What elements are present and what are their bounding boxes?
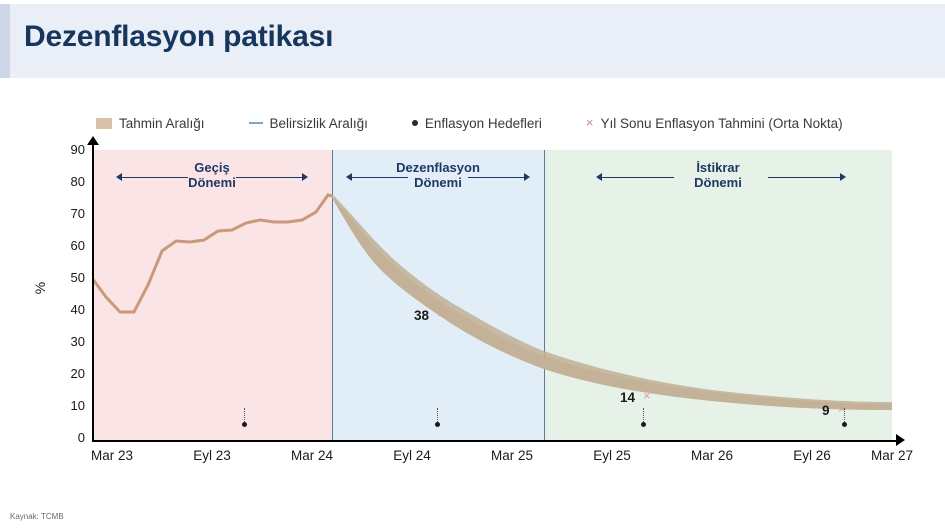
x-tick-eyl-25: Eyl 25	[593, 448, 631, 463]
point-label-14: 14	[620, 390, 635, 405]
x-axis	[92, 440, 898, 442]
dashed-line-swatch-icon	[249, 122, 263, 124]
x-tick-mar-27: Mar 27	[871, 448, 913, 463]
y-tick-0: 0	[78, 430, 85, 445]
cross-swatch-icon: ×	[586, 118, 594, 128]
page-title: Dezenflasyon patikası	[24, 20, 333, 54]
x-tick-eyl-23: Eyl 23	[193, 448, 231, 463]
source-note: Kaynak: TCMB	[10, 512, 64, 521]
chart-series-svg	[92, 150, 892, 442]
point-marker-38-icon: ×	[437, 306, 445, 321]
chart-plot-area: Geçiş Dönemi Dezenflasyon Dönemi İstikra…	[92, 150, 892, 440]
y-axis	[92, 142, 94, 440]
y-tick-90: 90	[71, 142, 85, 157]
legend-label: Tahmin Aralığı	[119, 116, 205, 131]
y-tick-80: 80	[71, 174, 85, 189]
x-tick-eyl-24: Eyl 24	[393, 448, 431, 463]
target-whisker	[643, 408, 644, 422]
y-axis-title: %	[32, 282, 48, 294]
legend-item-enflasyon-hedefleri: Enflasyon Hedefleri	[412, 116, 542, 131]
legend-item-tahmin-araligi: Tahmin Aralığı	[96, 116, 205, 131]
x-tick-eyl-26: Eyl 26	[793, 448, 831, 463]
y-tick-60: 60	[71, 238, 85, 253]
target-whisker	[844, 408, 845, 422]
forecast-band-area-fill	[332, 194, 892, 410]
x-tick-mar-23: Mar 23	[91, 448, 133, 463]
target-dot-icon	[842, 422, 847, 427]
target-whisker	[244, 408, 245, 422]
chart-legend: Tahmin Aralığı Belirsizlik Aralığı Enfla…	[96, 112, 906, 134]
legend-item-yil-sonu-tahmini: × Yıl Sonu Enflasyon Tahmini (Orta Nokta…	[586, 116, 843, 131]
legend-label: Enflasyon Hedefleri	[425, 116, 542, 131]
y-tick-20: 20	[71, 366, 85, 381]
historical-inflation-line	[92, 195, 332, 312]
y-tick-10: 10	[71, 398, 85, 413]
point-marker-14-icon: ×	[643, 388, 651, 403]
y-tick-40: 40	[71, 302, 85, 317]
target-dot-icon	[641, 422, 646, 427]
x-tick-mar-26: Mar 26	[691, 448, 733, 463]
legend-label: Yıl Sonu Enflasyon Tahmini (Orta Nokta)	[601, 116, 843, 131]
dot-swatch-icon	[412, 120, 418, 126]
x-tick-mar-24: Mar 24	[291, 448, 333, 463]
point-label-9: 9	[822, 403, 830, 418]
y-tick-50: 50	[71, 270, 85, 285]
filled-band-swatch-icon	[96, 118, 112, 129]
x-axis-arrow-icon	[896, 434, 905, 446]
y-axis-arrow-icon	[87, 136, 99, 145]
y-tick-70: 70	[71, 206, 85, 221]
legend-label: Belirsizlik Aralığı	[270, 116, 368, 131]
target-dot-icon	[435, 422, 440, 427]
point-label-38: 38	[414, 308, 429, 323]
title-accent-bar	[0, 4, 10, 78]
legend-item-belirsizlik-araligi: Belirsizlik Aralığı	[249, 116, 368, 131]
y-tick-30: 30	[71, 334, 85, 349]
x-tick-mar-25: Mar 25	[491, 448, 533, 463]
target-whisker	[437, 408, 438, 422]
target-dot-icon	[242, 422, 247, 427]
